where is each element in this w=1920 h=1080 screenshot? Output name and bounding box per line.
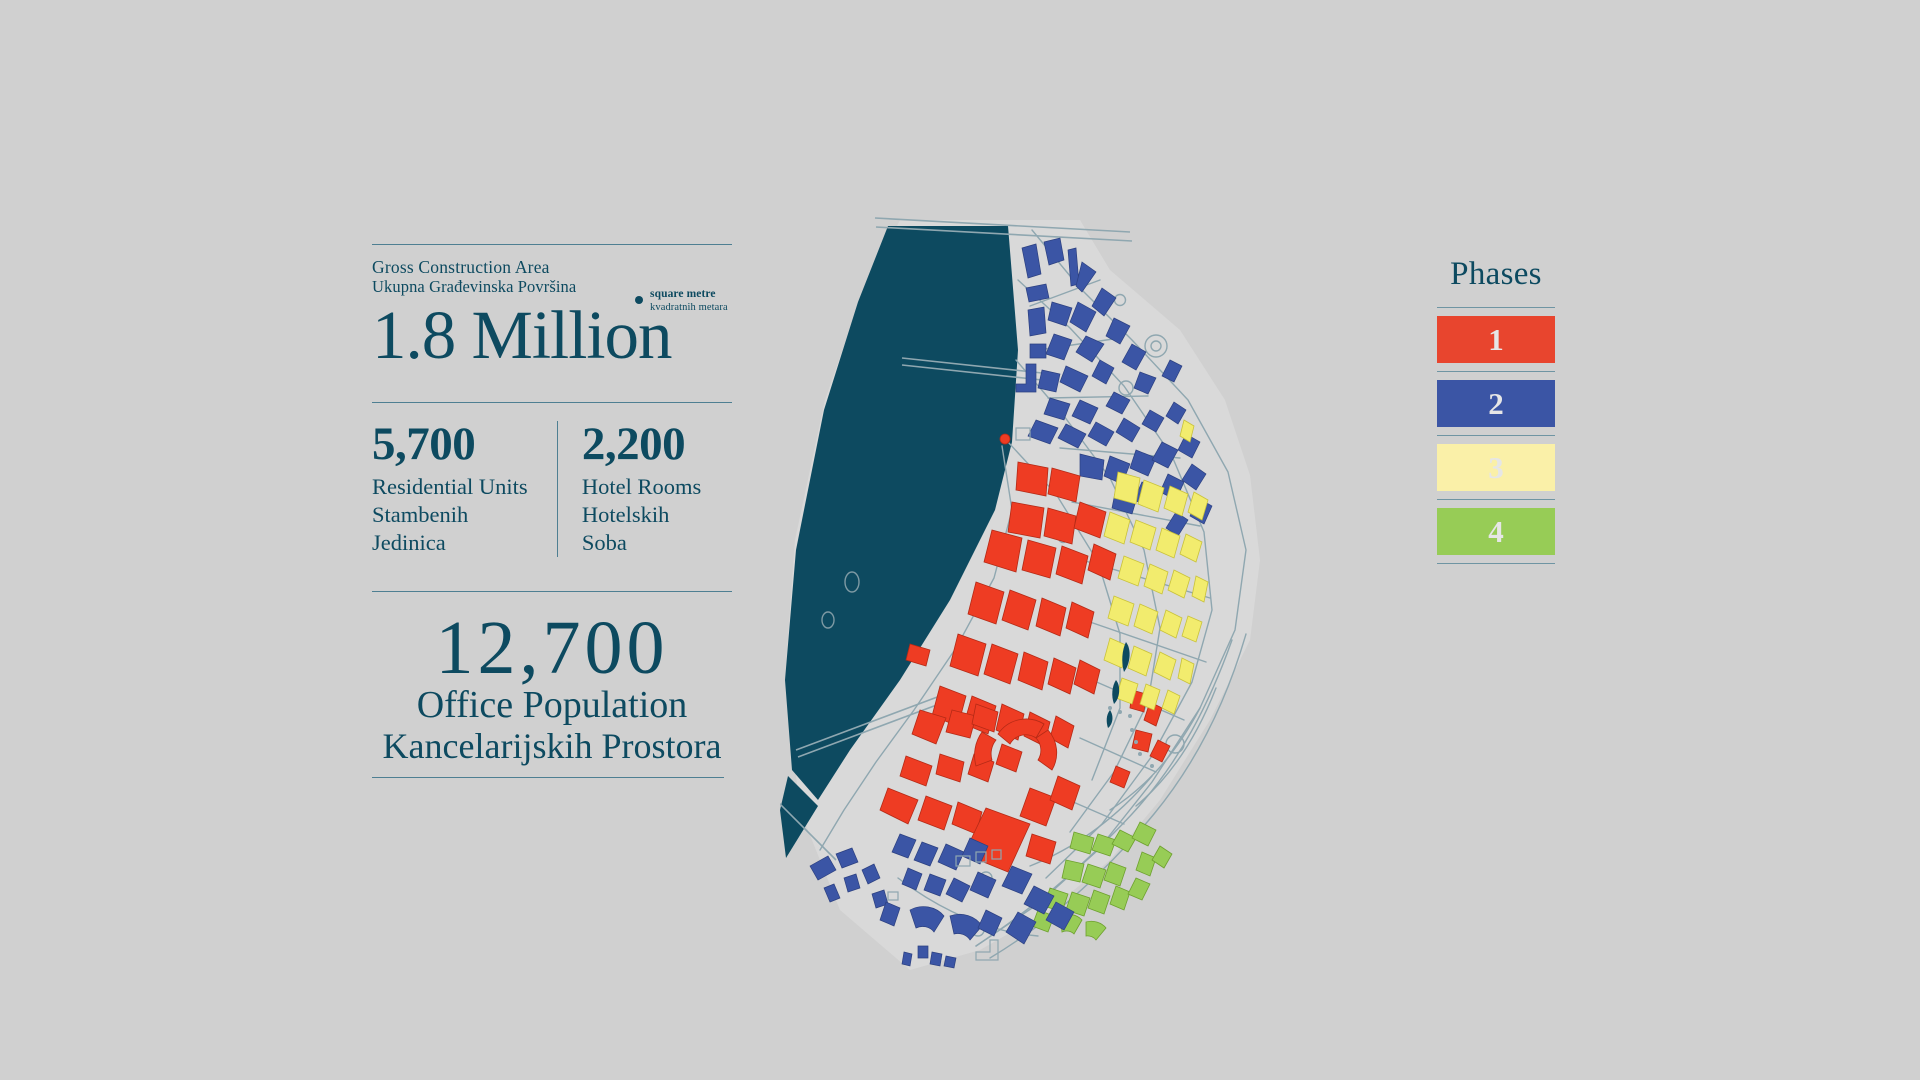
residential-label-en: Residential Units xyxy=(372,473,535,501)
hotel-label-sr: Hotelskih Soba xyxy=(582,501,710,557)
statistics-panel: Gross Construction Area Ukupna Građevins… xyxy=(372,244,732,778)
office-value: 12,700 xyxy=(372,610,732,686)
divider-bottom xyxy=(372,777,724,778)
phases-legend: Phases 1 2 3 4 xyxy=(1437,258,1555,564)
gca-unit-text: square metre kvadratnih metara xyxy=(650,288,728,314)
phase-divider-3 xyxy=(1437,499,1555,500)
phase-swatch-1[interactable]: 1 xyxy=(1437,316,1555,363)
paired-stats-row: 5,700 Residential Units Stambenih Jedini… xyxy=(372,421,732,557)
gca-value: 1.8 Million square metre kvadratnih meta… xyxy=(372,302,732,370)
gca-unit-en: square metre xyxy=(650,288,716,300)
phase-swatch-4[interactable]: 4 xyxy=(1437,508,1555,555)
divider-third xyxy=(372,591,732,592)
phase-divider-1 xyxy=(1437,371,1555,372)
gca-unit-sr: kvadratnih metara xyxy=(650,302,728,314)
hotel-rooms-stat: 2,200 Hotel Rooms Hotelskih Soba xyxy=(557,421,732,557)
phase-number-3: 3 xyxy=(1488,450,1504,486)
masterplan-map[interactable] xyxy=(780,210,1380,970)
gca-value-text: 1.8 Million xyxy=(372,297,672,373)
office-population-stat: 12,700 Office Population Kancelarijskih … xyxy=(372,610,732,767)
map-svg xyxy=(780,210,1380,970)
gca-label-en: Gross Construction Area xyxy=(372,257,732,277)
residential-value: 5,700 xyxy=(372,421,535,469)
phase-number-1: 1 xyxy=(1488,322,1504,358)
phase-number-4: 4 xyxy=(1488,514,1504,550)
infographic-canvas: Gross Construction Area Ukupna Građevins… xyxy=(0,0,1920,1080)
hotel-value: 2,200 xyxy=(582,421,710,469)
phases-title: Phases xyxy=(1437,258,1555,291)
divider-top xyxy=(372,244,732,245)
phase-divider-2 xyxy=(1437,435,1555,436)
bullet-dot-icon xyxy=(635,296,643,304)
hotel-label-en: Hotel Rooms xyxy=(582,473,710,501)
office-label-sr: Kancelarijskih Prostora xyxy=(372,726,732,766)
office-label-en: Office Population xyxy=(372,684,732,727)
phase-divider-4 xyxy=(1437,563,1555,564)
phase-swatch-3[interactable]: 3 xyxy=(1437,444,1555,491)
phase-number-2: 2 xyxy=(1488,386,1504,422)
residential-units-stat: 5,700 Residential Units Stambenih Jedini… xyxy=(372,421,557,557)
divider-second xyxy=(372,402,732,403)
hotel-labels: Hotel Rooms Hotelskih Soba xyxy=(582,473,710,557)
residential-label-sr: Stambenih Jedinica xyxy=(372,501,535,557)
phase-divider-0 xyxy=(1437,307,1555,308)
residential-labels: Residential Units Stambenih Jedinica xyxy=(372,473,535,557)
gca-unit-tag: square metre kvadratnih metara xyxy=(635,288,728,314)
phase-swatch-2[interactable]: 2 xyxy=(1437,380,1555,427)
